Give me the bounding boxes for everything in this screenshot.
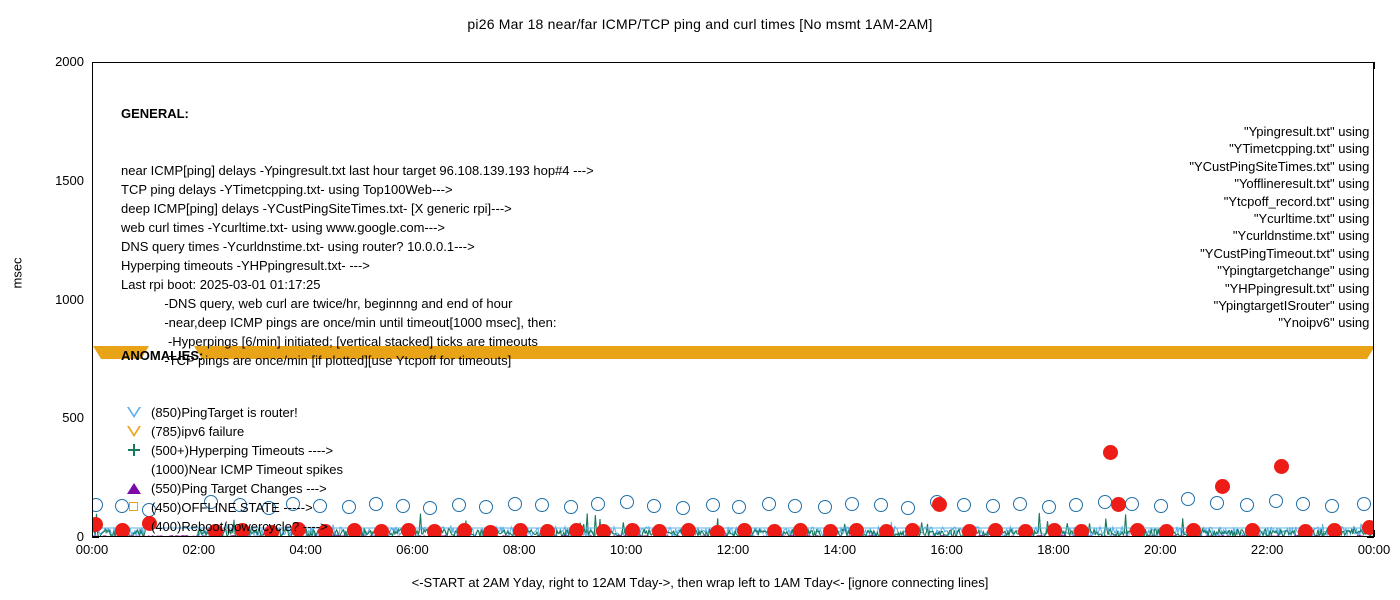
general-line: Hyperping timeouts -YHPpingresult.txt- -… (121, 256, 594, 275)
x-tick-mark (1374, 62, 1375, 69)
general-line: deep ICMP[ping] delays -YCustPingSiteTim… (121, 199, 594, 218)
legend-label: "Ypingtargetchange" using 1:2 (1217, 262, 1374, 279)
anomaly-row: (320)Deep ICMP Timeouts ----> (121, 536, 343, 537)
legend-row: "YTimetcpping.txt" using 1:2 (973, 140, 1374, 157)
none-icon (123, 517, 149, 536)
x-tick-label: 00:00 (76, 543, 109, 556)
x-tick-label: 02:00 (183, 543, 216, 556)
square-open-orange-icon (123, 498, 149, 517)
x-tick-label: 18:00 (1037, 543, 1070, 556)
legend-label: "YHPpingresult.txt" using 1:2 (1225, 280, 1374, 297)
y-tick-label: 1500 (26, 174, 84, 187)
anomaly-row: (450)OFFLINE STATE -----> (121, 498, 343, 517)
anomaly-row: (850)PingTarget is router! (121, 403, 343, 422)
anomaly-row: (785)ipv6 failure (121, 422, 343, 441)
anomaly-row: (1000)Near ICMP Timeout spikes (121, 460, 343, 479)
y-tick-label: 1000 (26, 293, 84, 306)
general-header: GENERAL: (121, 104, 594, 123)
legend-label: "YCustPingSiteTimes.txt" using 1:2 (1189, 158, 1374, 175)
ypingresult-trace (93, 536, 1374, 537)
anomaly-label: (785)ipv6 failure (151, 424, 244, 439)
legend-label: "Yofflineresult.txt" using 1:2 (1234, 175, 1374, 192)
legend-row: "Ypingresult.txt" using 1:2 (973, 123, 1374, 140)
anomaly-row: (400)Reboot/powercycle? ----> (121, 517, 343, 536)
x-tick-mark (1374, 530, 1375, 537)
legend-row: "YCustPingSiteTimes.txt" using 1:2 (973, 158, 1374, 175)
legend-label: "Ycurldnstime.txt" using 1:2 (1233, 227, 1374, 244)
general-line: near ICMP[ping] delays -Ypingresult.txt … (121, 161, 594, 180)
legend-row: "Yofflineresult.txt" using 1:2 (973, 175, 1374, 192)
legend-row: "Ytcpoff_record.txt" using 1:2 (973, 193, 1374, 210)
legend-label: "Ycurltime.txt" using 1:2 (1254, 210, 1374, 227)
x-tick-label: 12:00 (717, 543, 750, 556)
anomaly-label: (400)Reboot/powercycle? ----> (151, 519, 328, 534)
anomaly-label: (850)PingTarget is router! (151, 405, 298, 420)
anomaly-row: (500+)Hyperping Timeouts ----> (121, 441, 343, 460)
anomaly-row: (550)Ping Target Changes ---> (121, 479, 343, 498)
anomaly-label: (1000)Near ICMP Timeout spikes (151, 462, 343, 477)
general-line: Last rpi boot: 2025-03-01 01:17:25 (121, 275, 594, 294)
x-tick-label: 22:00 (1251, 543, 1284, 556)
anomaly-label: (550)Ping Target Changes ---> (151, 481, 327, 496)
plus-green-icon (123, 441, 149, 460)
y-tick-mark (1367, 537, 1374, 538)
x-tick-label: 20:00 (1144, 543, 1177, 556)
legend-label: "YTimetcpping.txt" using 1:2 (1229, 140, 1374, 157)
x-tick-label: 10:00 (610, 543, 643, 556)
legend-row: "Ycurldnstime.txt" using 1:2 (973, 227, 1374, 244)
legend-label: "YCustPingTimeout.txt" using 1:2 (1200, 245, 1374, 262)
anomaly-label: (450)OFFLINE STATE -----> (151, 500, 313, 515)
legend-label: "YpingtargetISrouter" using 1:2 (1214, 297, 1374, 314)
anomalies-header: ANOMALIES: (121, 346, 343, 365)
anomalies-text-block: ANOMALIES: (850)PingTarget is router!(78… (121, 308, 343, 537)
legend-label: "Ytcpoff_record.txt" using 1:2 (1224, 193, 1374, 210)
triangle-down-open-blue-icon (123, 403, 149, 422)
x-tick-label: 16:00 (930, 543, 963, 556)
triangle-up-open-black-icon (123, 536, 149, 537)
y-axis-label: msec (10, 259, 25, 289)
anomaly-label: (500+)Hyperping Timeouts ----> (151, 443, 333, 458)
y-tick-label: 2000 (26, 55, 84, 68)
legend-row: "Ypingtargetchange" using 1:2 (973, 262, 1374, 279)
x-tick-label: 14:00 (824, 543, 857, 556)
none-icon (123, 460, 149, 479)
y-tick-label: 500 (26, 411, 84, 424)
legend-label: "Ypingresult.txt" using 1:2 (1244, 123, 1374, 140)
x-tick-label: 06:00 (396, 543, 429, 556)
legend-row: "YpingtargetISrouter" using 1:2 (973, 297, 1374, 314)
legend-row: "YHPpingresult.txt" using 1:2 (973, 280, 1374, 297)
plot-area: GENERAL: near ICMP[ping] delays -Ypingre… (92, 62, 1374, 537)
x-axis-caption: <-START at 2AM Yday, right to 12AM Tday-… (0, 575, 1400, 590)
legend: "Ypingresult.txt" using 1:2"YTimetcpping… (973, 123, 1374, 332)
triangle-down-open-orange-icon (123, 422, 149, 441)
x-tick-label: 00:00 (1358, 543, 1391, 556)
general-line: web curl times -Ycurltime.txt- using www… (121, 218, 594, 237)
x-tick-label: 08:00 (503, 543, 536, 556)
chart-root: pi26 Mar 18 near/far ICMP/TCP ping and c… (0, 0, 1400, 600)
legend-row: "YCustPingTimeout.txt" using 1:2 (973, 245, 1374, 262)
legend-row: "Ycurltime.txt" using 1:2 (973, 210, 1374, 227)
y-tick-mark (92, 537, 99, 538)
legend-label: "Ynoipv6" using 1:2 (1278, 314, 1374, 331)
legend-row: "Ynoipv6" using 1:2 (973, 314, 1374, 331)
x-tick-label: 04:00 (289, 543, 322, 556)
general-line: DNS query times -Ycurldnstime.txt- using… (121, 237, 594, 256)
anomalies-rows: (850)PingTarget is router!(785)ipv6 fail… (121, 403, 343, 537)
general-line: TCP ping delays -YTimetcpping.txt- using… (121, 180, 594, 199)
chart-title: pi26 Mar 18 near/far ICMP/TCP ping and c… (0, 16, 1400, 32)
triangle-up-filled-purple-icon (123, 479, 149, 498)
